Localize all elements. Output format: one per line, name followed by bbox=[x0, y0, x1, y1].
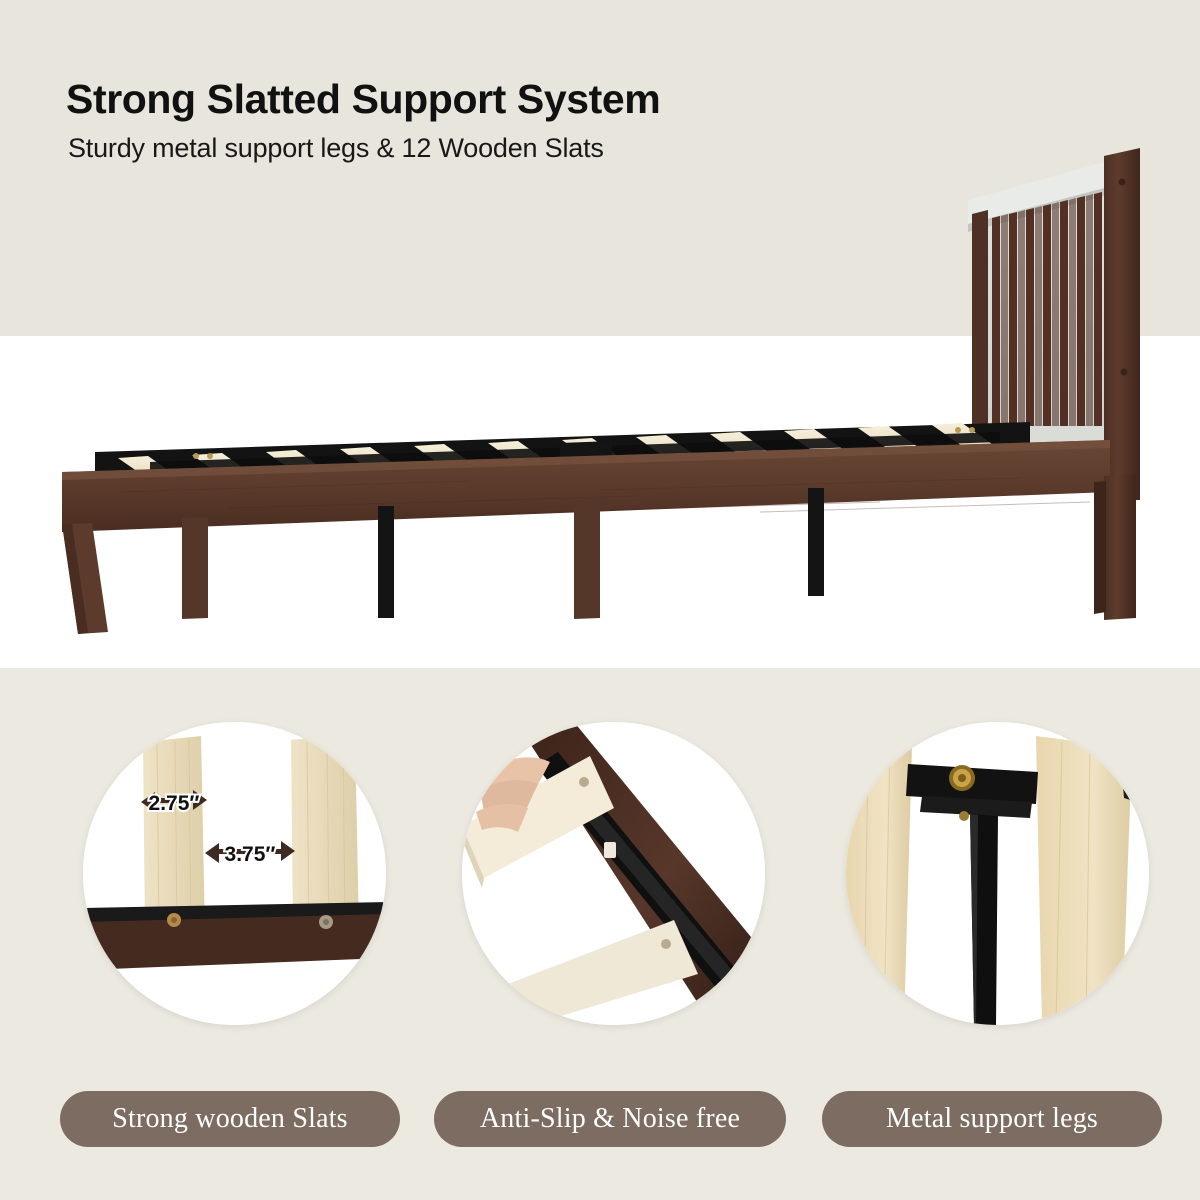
caption-pill-anti-slip-noise-free: Anti-Slip & Noise free bbox=[434, 1091, 786, 1147]
caption-pill-strong-wooden-slats: Strong wooden Slats bbox=[60, 1091, 400, 1147]
detail-circle-slat-dimensions: 2.75″ 3.75″ bbox=[83, 722, 386, 1025]
page-title: Strong Slatted Support System bbox=[66, 76, 660, 123]
caption-pill-metal-support-legs: Metal support legs bbox=[822, 1091, 1162, 1147]
hero-product-image bbox=[0, 140, 1200, 660]
detail-circle-metal-leg bbox=[846, 722, 1149, 1025]
caption-pill-row: Strong wooden Slats Anti-Slip & Noise fr… bbox=[0, 1091, 1200, 1153]
infographic-page: Strong Slatted Support System Sturdy met… bbox=[0, 0, 1200, 1200]
svg-text:3.75″: 3.75″ bbox=[225, 843, 276, 866]
detail-circle-anti-slip bbox=[462, 722, 765, 1025]
svg-text:2.75″: 2.75″ bbox=[149, 792, 200, 815]
detail-circles-row: 2.75″ 3.75″ bbox=[0, 722, 1200, 1026]
